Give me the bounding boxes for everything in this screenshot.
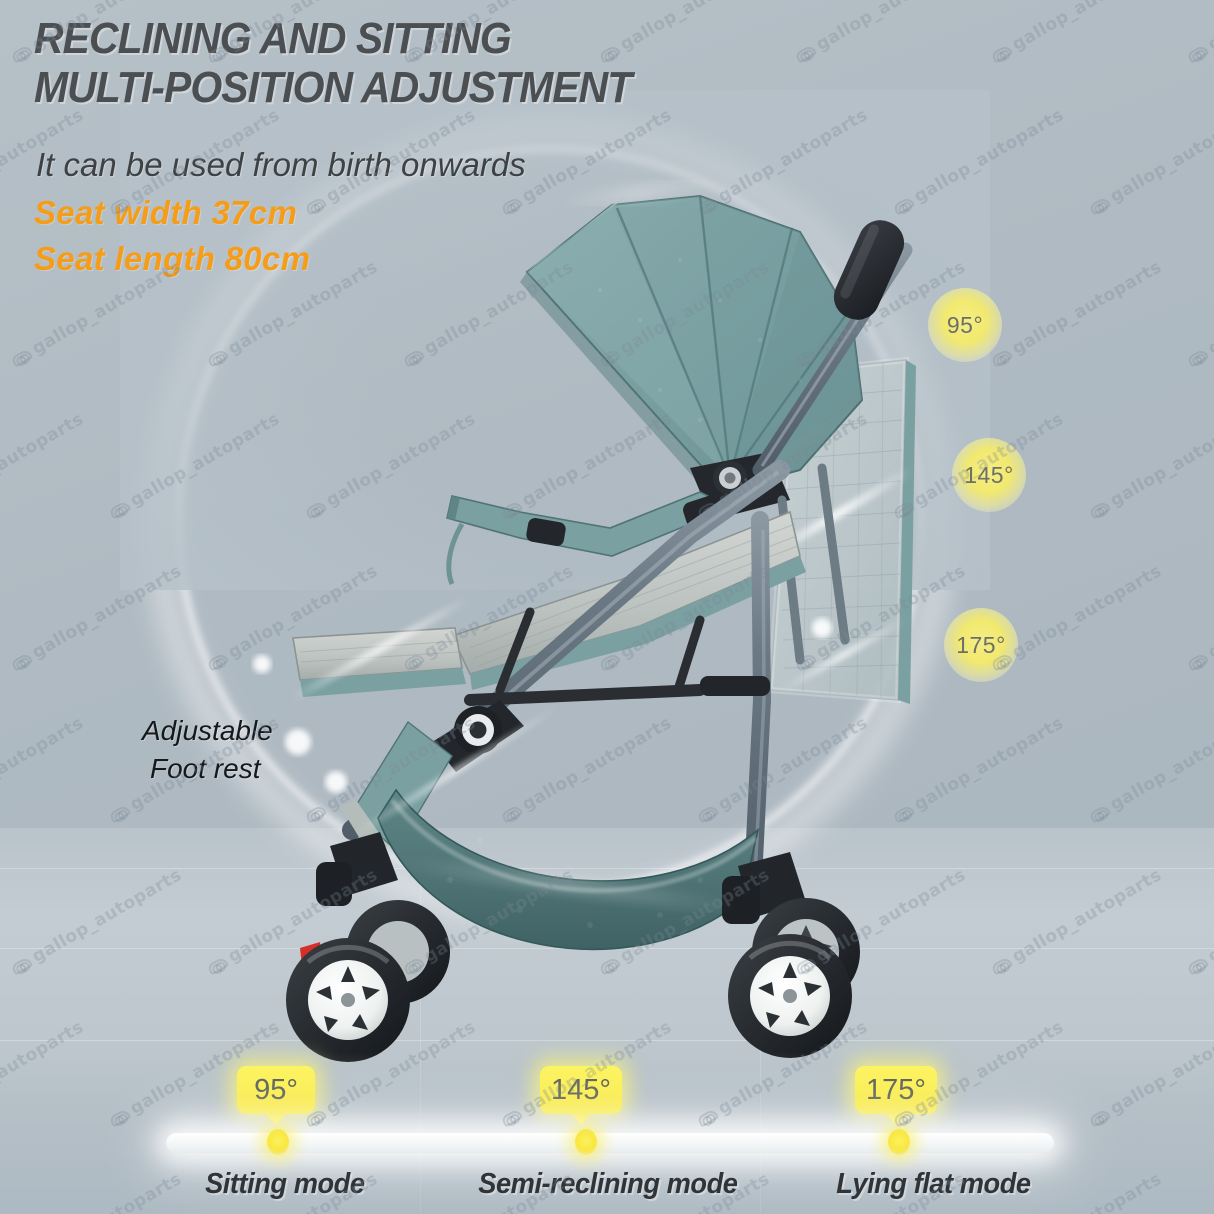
spec-seat-width: Seat width 37cm (34, 194, 297, 232)
angle-badge-95: 95° (928, 288, 1002, 362)
mode-label-semi-reclining: Semi-reclining mode (478, 1168, 737, 1201)
footrest-callout: Adjustable Foot rest (142, 712, 273, 788)
track-dot-95 (267, 1129, 289, 1155)
title-line-1: RECLINING AND SITTING (34, 14, 741, 63)
title-line-2: MULTI-POSITION ADJUSTMENT (34, 63, 741, 112)
position-track (166, 1133, 1054, 1153)
angle-badge-175: 175° (944, 608, 1018, 682)
footrest-callout-line-2: Foot rest (142, 750, 273, 788)
footrest-callout-line-1: Adjustable (142, 712, 273, 750)
mode-label-lying-flat: Lying flat mode (836, 1168, 1030, 1201)
page-title: RECLINING AND SITTING MULTI-POSITION ADJ… (34, 14, 794, 112)
track-dot-175 (888, 1129, 910, 1155)
scale-bubble-95: 95° (237, 1066, 315, 1114)
rear-wheel-assembly (722, 852, 860, 1058)
angle-badge-145: 145° (952, 438, 1026, 512)
scale-bubble-145: 145° (540, 1066, 622, 1114)
page-subtitle: It can be used from birth onwards (36, 146, 526, 184)
infographic-canvas: RECLINING AND SITTING MULTI-POSITION ADJ… (0, 0, 1214, 1214)
track-dot-145 (575, 1129, 597, 1155)
mode-label-sitting: Sitting mode (205, 1168, 364, 1201)
spec-seat-length: Seat length 80cm (34, 240, 310, 278)
canopy (520, 196, 862, 486)
scale-bubble-175: 175° (855, 1066, 937, 1114)
